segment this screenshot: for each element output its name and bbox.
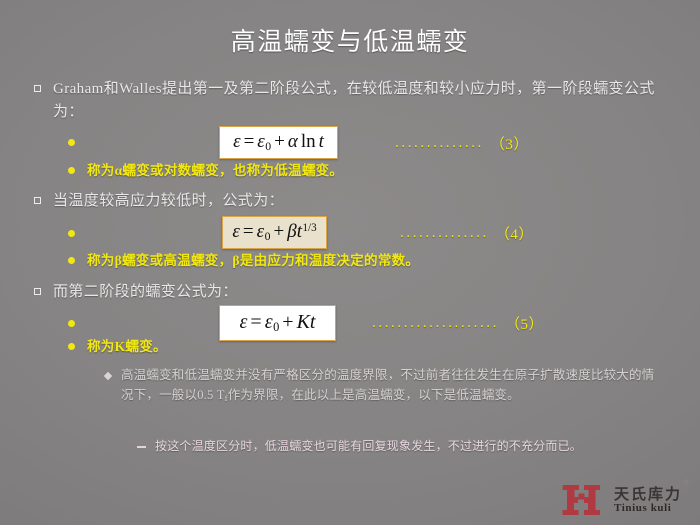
bullet-1-note-text: 称为α蠕变或对数蠕变，也称为低温蠕变。 bbox=[87, 161, 343, 181]
bullet-3-note-text: 称为K蠕变。 bbox=[87, 337, 167, 357]
formula-2-leader: .............. （4） bbox=[400, 223, 534, 244]
formula-3-leader: .................... （5） bbox=[372, 313, 544, 334]
formula-eq3-expression: ε=ε0+αlnt bbox=[233, 131, 324, 154]
eq5-coef: K bbox=[297, 311, 310, 333]
diamond-note-text: 高温蠕变和低温蠕变并没有严格区分的温度界限，不过前者往往发生在原子扩散速度比较大… bbox=[121, 366, 665, 408]
diamond-note-seg-b: 作为界限，在此以上是高温蠕变，以下是低温蠕变。 bbox=[228, 388, 520, 402]
diamond-bullet-icon bbox=[104, 372, 112, 380]
formula-eq4-expression: ε=ε0+βt1/3 bbox=[232, 221, 316, 244]
round-bullet-icon bbox=[68, 343, 75, 350]
eq5-term1: ε bbox=[265, 311, 273, 333]
bullet-3-text: 而第二阶段的蠕变公式为： bbox=[53, 281, 238, 304]
formula-2-marker-row bbox=[68, 223, 87, 237]
eq3-term1: ε bbox=[257, 131, 265, 152]
page-title: 高温蠕变与低温蠕变 bbox=[0, 22, 700, 58]
dash-note-item: 按这个温度区分时，低温蠕变也可能有回复现象发生，不过进行的不充分而已。 bbox=[137, 437, 647, 456]
logo-chinese-name: 天氏库力 bbox=[614, 483, 682, 504]
formula-box-eq5: ε=ε0+Kt bbox=[219, 305, 336, 341]
eq4-var-sup: 1/3 bbox=[303, 222, 317, 234]
formula-1-leader: .............. （3） bbox=[395, 133, 529, 154]
eq4-equals: = bbox=[240, 221, 257, 242]
diamond-note-item: 高温蠕变和低温蠕变并没有严格区分的温度界限，不过前者往往发生在原子扩散速度比较大… bbox=[105, 366, 665, 408]
equation-number-4: （4） bbox=[495, 223, 534, 244]
slide-canvas: 高温蠕变与低温蠕变 Graham和Walles提出第一及第二阶段公式，在较低温度… bbox=[0, 0, 700, 525]
bullet-item-2-note: 称为β蠕变或高温蠕变，β是由应力和温度决定的常数。 bbox=[68, 251, 628, 271]
eq3-equals: = bbox=[241, 131, 258, 152]
eq4-plus: + bbox=[271, 221, 288, 242]
eq3-lhs: ε bbox=[233, 131, 241, 152]
bullet-item-2: 当温度较高应力较低时，公式为： bbox=[34, 190, 662, 213]
bullet-item-3: 而第二阶段的蠕变公式为： bbox=[34, 281, 662, 304]
round-bullet-icon bbox=[68, 230, 75, 237]
round-bullet-icon bbox=[68, 320, 75, 327]
eq3-plus: + bbox=[271, 131, 288, 152]
bullet-1-text: Graham和Walles提出第一及第二阶段公式，在较低温度和较小应力时，第一阶… bbox=[53, 78, 662, 124]
brand-logo: 天氏库力 Tinius kuli ® bbox=[560, 477, 692, 521]
round-bullet-icon bbox=[68, 167, 75, 174]
eq3-function: ln bbox=[298, 131, 316, 152]
bullet-item-3-note: 称为K蠕变。 bbox=[68, 337, 628, 357]
eq3-var: t bbox=[316, 131, 324, 152]
square-bullet-icon bbox=[34, 85, 41, 92]
bullet-2-text: 当温度较高应力较低时，公式为： bbox=[53, 190, 284, 213]
equation-number-5: （5） bbox=[505, 313, 544, 334]
round-bullet-icon bbox=[68, 139, 75, 146]
registered-trademark-icon: ® bbox=[683, 477, 690, 487]
logo-english-name: Tinius kuli bbox=[614, 502, 671, 514]
formula-box-eq3: ε=ε0+αlnt bbox=[219, 126, 338, 159]
bullet-item-1: Graham和Walles提出第一及第二阶段公式，在较低温度和较小应力时，第一阶… bbox=[34, 78, 662, 124]
leader-dots-eq4: .............. bbox=[400, 226, 489, 241]
eq4-coef: β bbox=[287, 221, 296, 242]
dash-bullet-icon bbox=[137, 446, 146, 448]
equation-number-3: （3） bbox=[490, 133, 529, 154]
formula-box-eq4: ε=ε0+βt1/3 bbox=[222, 216, 327, 249]
square-bullet-icon bbox=[34, 288, 41, 295]
formula-eq5-expression: ε=ε0+Kt bbox=[240, 311, 316, 335]
bullet-item-1-note: 称为α蠕变或对数蠕变，也称为低温蠕变。 bbox=[68, 161, 628, 181]
bullet-2-note-text: 称为β蠕变或高温蠕变，β是由应力和温度决定的常数。 bbox=[87, 251, 419, 271]
eq4-term1: ε bbox=[257, 221, 265, 242]
eq4-term1-sub: 0 bbox=[265, 230, 271, 243]
leader-dots-eq5: .................... bbox=[372, 316, 499, 331]
eq5-var: t bbox=[310, 311, 316, 333]
eq5-plus: + bbox=[279, 311, 296, 333]
round-bullet-icon bbox=[68, 257, 75, 264]
eq3-coef: α bbox=[288, 131, 298, 152]
eq4-var: t bbox=[297, 221, 302, 242]
eq5-equals: = bbox=[247, 311, 264, 333]
formula-1-marker-row bbox=[68, 132, 87, 146]
dash-note-text: 按这个温度区分时，低温蠕变也可能有回复现象发生，不过进行的不充分而已。 bbox=[155, 437, 582, 456]
square-bullet-icon bbox=[34, 197, 41, 204]
eq4-lhs: ε bbox=[232, 221, 240, 242]
logo-h-icon bbox=[562, 483, 608, 517]
leader-dots-eq3: .............. bbox=[395, 136, 484, 151]
formula-3-marker-row bbox=[68, 313, 87, 327]
